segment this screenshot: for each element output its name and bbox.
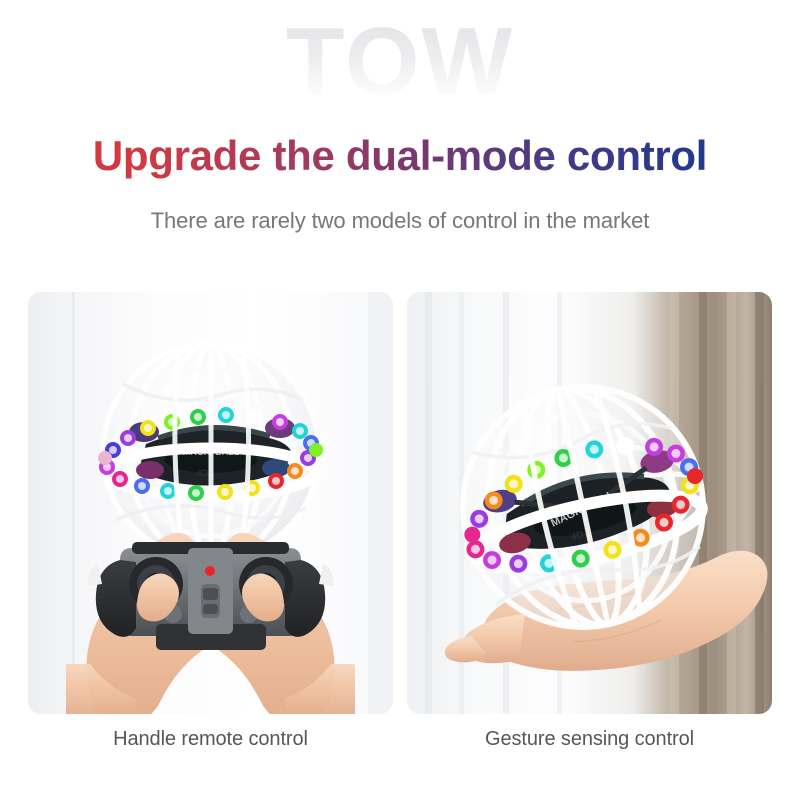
watermark-text: TOW bbox=[0, 14, 800, 110]
page-title: Upgrade the dual-mode control bbox=[0, 132, 800, 179]
panel-captions: Handle remote control Gesture sensing co… bbox=[28, 728, 772, 751]
panel-gesture-sensing[interactable]: MAGIC BALL 4D- bbox=[407, 292, 772, 714]
remote-controller bbox=[88, 542, 334, 650]
remote-power-led bbox=[205, 566, 215, 576]
drone-ball-left: MAGIC BALL 4D- bbox=[98, 344, 323, 560]
caption-handle-remote: Handle remote control bbox=[28, 728, 393, 751]
panel-handle-remote[interactable]: MAGIC BALL 4D- bbox=[28, 292, 393, 714]
page-subtitle: There are rarely two models of control i… bbox=[0, 208, 800, 234]
product-panels: MAGIC BALL 4D- bbox=[28, 292, 772, 714]
caption-gesture-sensing: Gesture sensing control bbox=[407, 728, 772, 751]
handle-remote-illustration: MAGIC BALL 4D- bbox=[28, 292, 393, 714]
gesture-sensing-illustration: MAGIC BALL 4D- bbox=[407, 292, 772, 714]
header: TOW Upgrade the dual-mode control There … bbox=[0, 0, 800, 276]
